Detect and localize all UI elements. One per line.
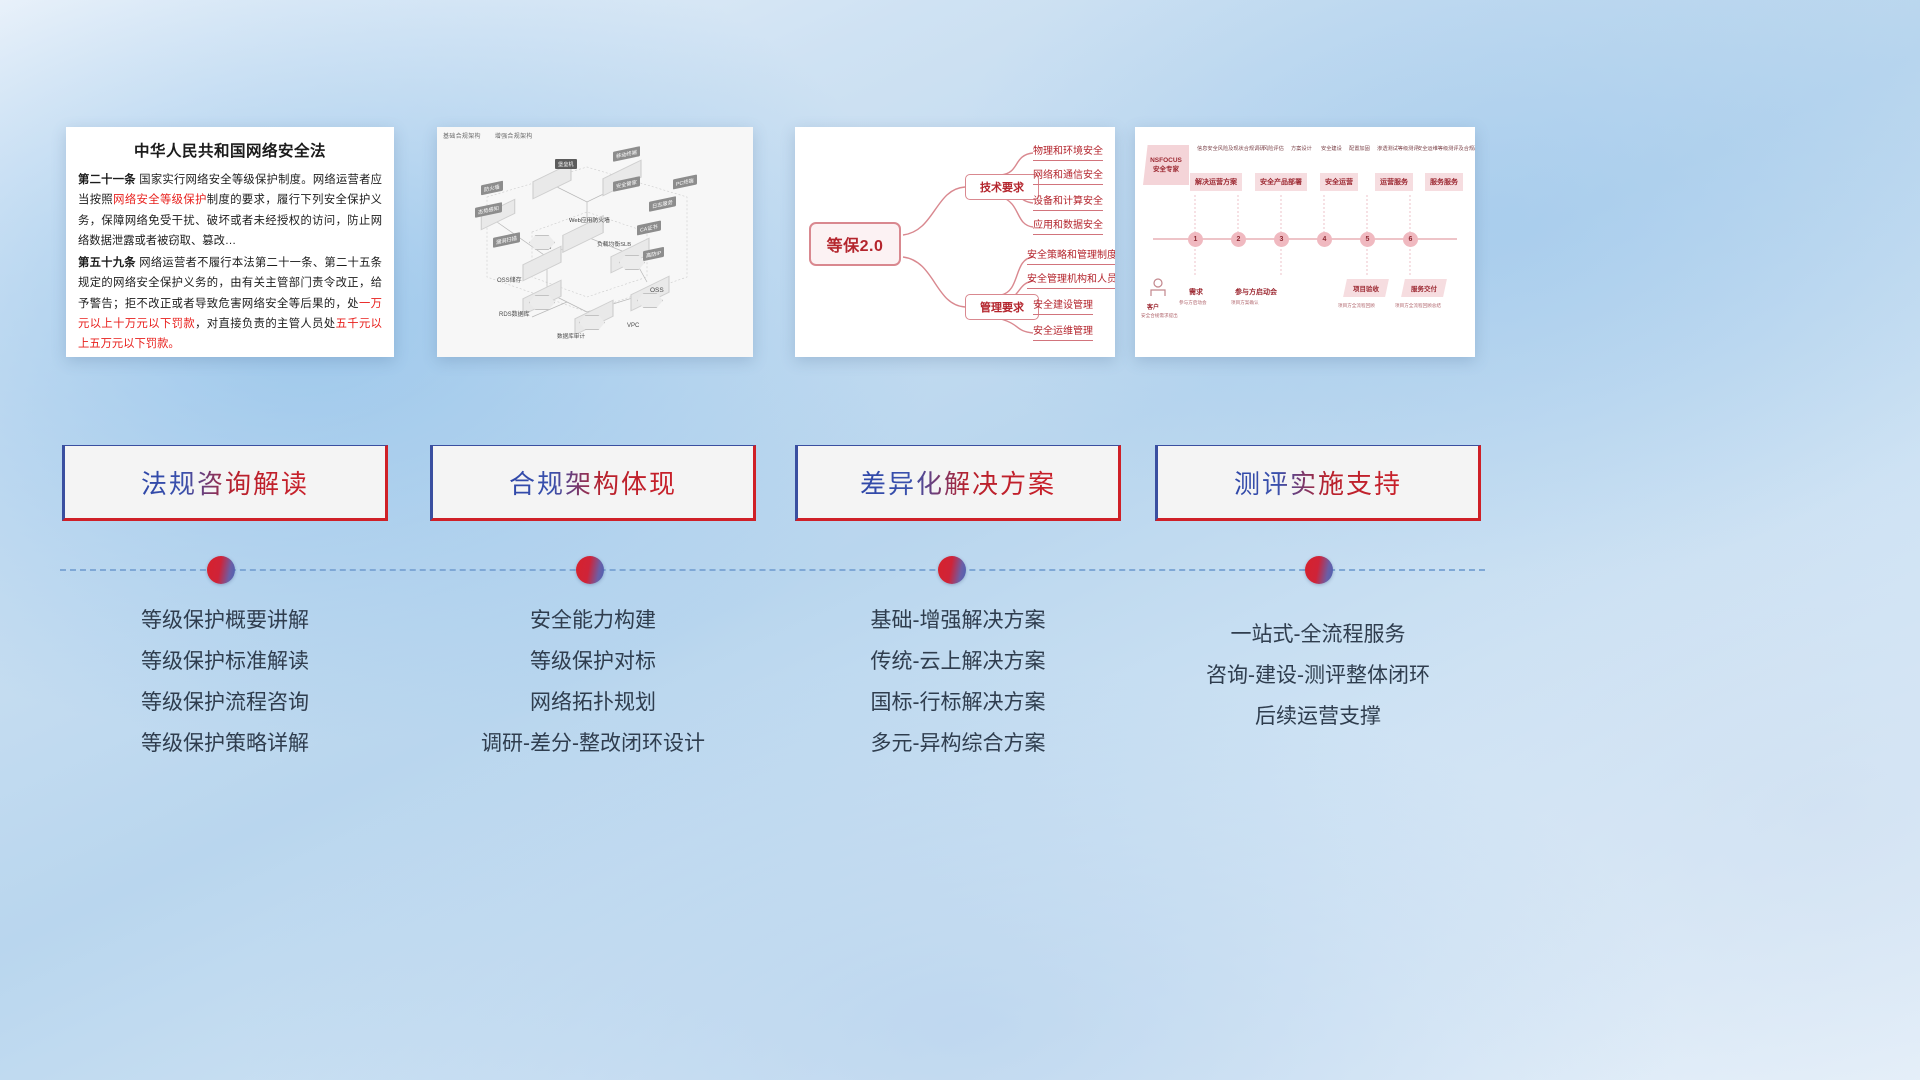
card-architecture[interactable]: 基础合规架构增强合规架构 [437,127,753,357]
list-item: 基础-增强解决方案 [795,600,1121,641]
roadmap-bottom-right-1-sub: 项目方全流程回顾总结 [1395,303,1441,309]
roadmap-number-2[interactable]: 2 [1231,232,1246,247]
banner-label: 法规咨询解读 [141,464,309,501]
list-item: 等级保护流程咨询 [62,682,388,723]
roadmap-top-6: 安全运维等级测评及合规改造建议 [1417,145,1475,152]
banner-differentiated-solution[interactable]: 差异化解决方案 [795,445,1121,521]
card-law[interactable]: 中华人民共和国网络安全法 第二十一条 国家实行网络安全等级保护制度。网络运营者应… [66,127,394,357]
list-assessment-support: 一站式-全流程服务 咨询-建设-测评整体闭环 后续运营支撑 [1155,614,1481,737]
mindmap-branch-management[interactable]: 管理要求 [965,294,1039,320]
roadmap-bottom-2-sub: 项目方案确认 [1231,300,1259,306]
arch-node-7[interactable]: 负载均衡SLB [597,239,631,248]
roadmap-bottom-2-title: 参与方启动会 [1235,287,1277,297]
arch-node-5[interactable]: Web应用防火墙 [569,215,610,224]
list-differentiated-solution: 基础-增强解决方案 传统-云上解决方案 国标-行标解决方案 多元-异构综合方案 [795,600,1121,764]
mindmap-leaf-m0[interactable]: 安全策略和管理制度 [1027,249,1115,265]
roadmap-top-1: 风险评估 [1263,145,1284,152]
roadmap-bottom-1-sub: 参与方启动会 [1179,300,1207,306]
roadmap-stage-4[interactable]: 服务服务 [1425,173,1463,191]
banner-compliance-architecture[interactable]: 合规架构体现 [430,445,756,521]
list-compliance-architecture: 安全能力构建 等级保护对标 网络拓扑规划 调研-差分-整改闭环设计 [430,600,756,764]
mindmap-diagram: 等保2.0 技术要求 管理要求 物理和环境安全 网络和通信安全 设备和计算安全 … [795,127,1115,357]
banner-label: 合规架构体现 [509,464,677,501]
roadmap-number-6[interactable]: 6 [1403,232,1418,247]
roadmap-bottom-right-1-title: 服务交付 [1411,283,1437,293]
mindmap-branch-technical[interactable]: 技术要求 [965,174,1039,200]
card-mindmap[interactable]: 等保2.0 技术要求 管理要求 物理和环境安全 网络和通信安全 设备和计算安全 … [795,127,1115,357]
banner-label: 测评实施支持 [1234,464,1402,501]
timeline [0,556,1920,586]
arch-node-10[interactable]: OSS储存 [497,275,522,284]
law-article-59: 第五十九条 网络运营者不履行本法第二十一条、第二十五条规定的网络安全保护义务的，… [78,253,382,354]
banner-assessment-support[interactable]: 测评实施支持 [1155,445,1481,521]
timeline-dot-1[interactable] [207,556,235,584]
mindmap-leaf-t2[interactable]: 设备和计算安全 [1033,195,1103,211]
roadmap-stage-2[interactable]: 安全运营 [1320,173,1358,191]
mindmap-leaf-t3[interactable]: 应用和数据安全 [1033,219,1103,235]
roadmap-top-4: 配置加固 [1349,145,1370,152]
mindmap-leaf-t1[interactable]: 网络和通信安全 [1033,169,1103,185]
list-item: 等级保护对标 [430,641,756,682]
list-item: 调研-差分-整改闭环设计 [430,723,756,764]
roadmap-top-2: 方案设计 [1291,145,1312,152]
list-item: 安全能力构建 [430,600,756,641]
arch-node-13[interactable]: VPC [627,323,639,329]
roadmap-badge-line2: 安全专家 [1153,165,1179,174]
arch-node-11[interactable]: OSS [650,287,664,294]
mindmap-leaf-m2[interactable]: 安全建设管理 [1033,299,1093,315]
arch-node-12[interactable]: RDS数据库 [499,309,530,318]
law-article-59-label: 第五十九条 [78,257,136,269]
roadmap-bottom-right-0-sub: 项目方全流程回顾 [1338,303,1375,309]
roadmap-bottom-0-title: 客户 [1147,302,1159,311]
law-article-21: 第二十一条 国家实行网络安全等级保护制度。网络运营者应当按照网络安全等级保护制度… [78,170,382,251]
mindmap-root[interactable]: 等保2.0 [809,222,901,266]
roadmap-bottom-0-sub: 安全合规需求提出 [1141,313,1178,319]
roadmap-number-5[interactable]: 5 [1360,232,1375,247]
roadmap-bottom-right-1[interactable]: 服务交付 [1401,279,1447,297]
banners-row: 法规咨询解读 合规架构体现 差异化解决方案 测评实施支持 [0,445,1920,525]
list-item: 网络拓扑规划 [430,682,756,723]
timeline-dot-3[interactable] [938,556,966,584]
law-content: 中华人民共和国网络安全法 第二十一条 国家实行网络安全等级保护制度。网络运营者应… [66,127,394,357]
roadmap-top-5: 渗透测试等级测评 [1377,145,1419,152]
architecture-diagram: 基础合规架构增强合规架构 [437,127,753,357]
roadmap-bottom-right-0[interactable]: 项目验收 [1343,279,1389,297]
cards-row: 中华人民共和国网络安全法 第二十一条 国家实行网络安全等级保护制度。网络运营者应… [0,0,1920,420]
law-article-59-text-b: ，对直接负责的主管人员处 [195,318,335,330]
roadmap-number-4[interactable]: 4 [1317,232,1332,247]
arch-node-0[interactable]: 堡垒机 [555,159,577,169]
roadmap-top-0: 信息安全风险及现状合规调研 [1197,145,1264,152]
list-item: 多元-异构综合方案 [795,723,1121,764]
timeline-dashed-line [60,569,1485,571]
roadmap-number-1[interactable]: 1 [1188,232,1203,247]
list-item: 后续运营支撑 [1155,696,1481,737]
list-item: 等级保护标准解读 [62,641,388,682]
list-item: 一站式-全流程服务 [1155,614,1481,655]
list-item: 国标-行标解决方案 [795,682,1121,723]
mindmap-leaf-m3[interactable]: 安全运维管理 [1033,325,1093,341]
roadmap-stage-1[interactable]: 安全产品部署 [1255,173,1307,191]
timeline-dot-2[interactable] [576,556,604,584]
roadmap-stage-0[interactable]: 解决运营方案 [1190,173,1242,191]
roadmap-badge: NSFOCUS 安全专家 [1143,145,1189,185]
roadmap-top-3: 安全建设 [1321,145,1342,152]
law-article-21-label: 第二十一条 [78,174,136,186]
banner-label: 差异化解决方案 [860,464,1056,501]
lists-row: 等级保护概要讲解 等级保护标准解读 等级保护流程咨询 等级保护策略详解 安全能力… [0,600,1920,800]
roadmap-bottom-1-title: 需求 [1189,287,1203,297]
roadmap-bottom-right-0-title: 项目验收 [1353,283,1379,293]
roadmap-stage-3[interactable]: 运营服务 [1375,173,1413,191]
roadmap-number-3[interactable]: 3 [1274,232,1289,247]
list-item: 等级保护概要讲解 [62,600,388,641]
mindmap-leaf-m1[interactable]: 安全管理机构和人员 [1027,273,1115,289]
card-roadmap[interactable]: NSFOCUS 安全专家 信息安全风险及现状合规调研 风险评估 方案设计 安全建… [1135,127,1475,357]
timeline-dot-4[interactable] [1305,556,1333,584]
list-regulation-consulting: 等级保护概要讲解 等级保护标准解读 等级保护流程咨询 等级保护策略详解 [62,600,388,764]
roadmap-badge-line1: NSFOCUS [1150,156,1182,165]
law-article-21-highlight: 网络安全等级保护 [113,194,207,206]
mindmap-leaf-t0[interactable]: 物理和环境安全 [1033,145,1103,161]
banner-regulation-consulting[interactable]: 法规咨询解读 [62,445,388,521]
roadmap-diagram: NSFOCUS 安全专家 信息安全风险及现状合规调研 风险评估 方案设计 安全建… [1135,127,1475,357]
list-item: 咨询-建设-测评整体闭环 [1155,655,1481,696]
law-title: 中华人民共和国网络安全法 [78,139,382,161]
arch-node-14[interactable]: 数据库审计 [557,332,585,340]
list-item: 等级保护策略详解 [62,723,388,764]
list-item: 传统-云上解决方案 [795,641,1121,682]
